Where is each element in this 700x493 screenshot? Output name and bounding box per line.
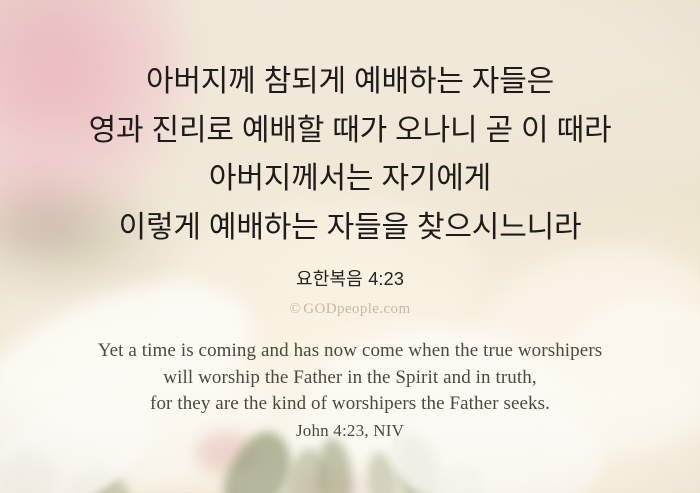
card-content: 아버지께 참되게 예배하는 자들은 영과 진리로 예배할 때가 오나니 곧 이 … <box>0 0 700 493</box>
korean-verse-line-2: 영과 진리로 예배할 때가 오나니 곧 이 때라 <box>0 107 700 156</box>
korean-verse-text: 아버지께 참되게 예배하는 자들은 영과 진리로 예배할 때가 오나니 곧 이 … <box>0 58 700 252</box>
english-verse-line-2: will worship the Father in the Spirit an… <box>0 365 700 392</box>
korean-verse-line-3: 아버지께서는 자기에게 <box>0 155 700 204</box>
english-verse-line-3: for they are the kind of worshipers the … <box>0 391 700 418</box>
english-reference: John 4:23, NIV <box>0 419 700 443</box>
watermark-text: GODpeople.com <box>303 301 410 317</box>
korean-reference: 요한복음 4:23 <box>0 267 700 291</box>
korean-verse-line-1: 아버지께 참되게 예배하는 자들은 <box>0 58 700 107</box>
scripture-card: 아버지께 참되게 예배하는 자들은 영과 진리로 예배할 때가 오나니 곧 이 … <box>0 0 700 493</box>
english-verse-text: Yet a time is coming and has now come wh… <box>0 338 700 418</box>
copyright-icon: © <box>289 299 301 319</box>
godpeople-watermark: ©GODpeople.com <box>0 299 700 319</box>
korean-verse-line-4: 이렇게 예배하는 자들을 찾으시느니라 <box>0 204 700 253</box>
english-verse-line-1: Yet a time is coming and has now come wh… <box>0 338 700 365</box>
